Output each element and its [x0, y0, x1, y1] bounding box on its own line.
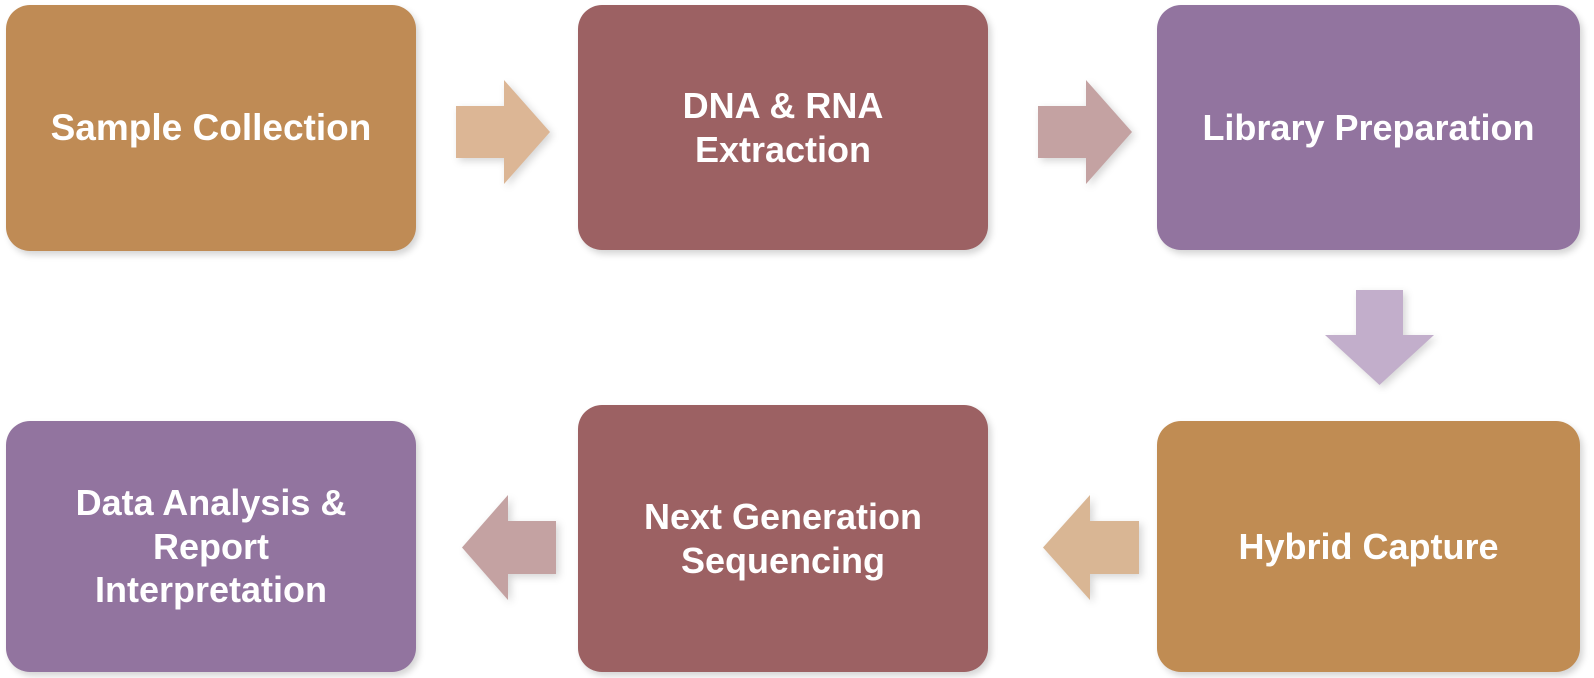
- node-next-generation-sequencing[interactable]: Next Generation Sequencing: [578, 405, 988, 672]
- node-library-preparation[interactable]: Library Preparation: [1157, 5, 1580, 250]
- arrow-left-shape: [462, 495, 556, 600]
- arrow-left-sequencing-to-analysis: [462, 495, 556, 600]
- node-library-preparation-label: Library Preparation: [1175, 106, 1562, 150]
- node-dna-rna-extraction-label: DNA & RNA Extraction: [596, 84, 970, 172]
- node-hybrid-capture-label: Hybrid Capture: [1175, 525, 1562, 569]
- arrow-left-icon: [1043, 495, 1139, 600]
- node-data-analysis-report-interpretation[interactable]: Data Analysis & Report Interpretation: [6, 421, 416, 672]
- arrow-right-shape: [456, 80, 550, 184]
- node-data-analysis-report-interpretation-label: Data Analysis & Report Interpretation: [24, 481, 398, 613]
- node-sample-collection[interactable]: Sample Collection: [6, 5, 416, 251]
- arrow-left-shape: [1043, 495, 1139, 600]
- arrow-right-shape: [1038, 80, 1132, 184]
- arrow-right-extraction-to-library: [1038, 80, 1132, 184]
- node-next-generation-sequencing-label: Next Generation Sequencing: [596, 495, 970, 583]
- node-dna-rna-extraction[interactable]: DNA & RNA Extraction: [578, 5, 988, 250]
- arrow-down-library-to-hybrid: [1325, 290, 1434, 385]
- arrow-down-icon: [1325, 290, 1434, 385]
- arrow-left-hybrid-to-sequencing: [1043, 495, 1139, 600]
- arrow-right-icon: [456, 80, 550, 184]
- arrow-right-sample-to-extraction: [456, 80, 550, 184]
- arrow-right-icon: [1038, 80, 1132, 184]
- node-hybrid-capture[interactable]: Hybrid Capture: [1157, 421, 1580, 672]
- node-sample-collection-label: Sample Collection: [24, 105, 398, 150]
- workflow-diagram-canvas: Sample Collection DNA & RNA Extraction L…: [0, 0, 1594, 678]
- arrow-left-icon: [462, 495, 556, 600]
- arrow-down-shape: [1325, 290, 1434, 385]
